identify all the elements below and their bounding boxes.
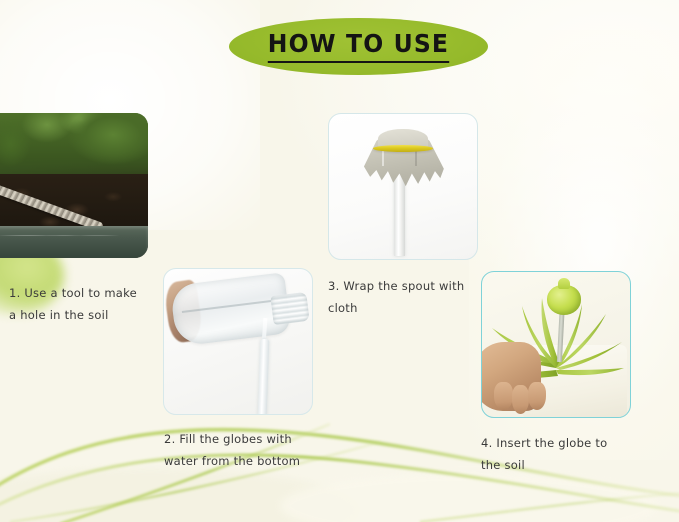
finger — [494, 382, 513, 410]
step-3: 3. Wrap the spout with cloth — [328, 113, 488, 320]
step-4-caption: 4. Insert the globe to the soil — [481, 432, 651, 477]
step-3-image — [328, 113, 478, 260]
how-to-use-infographic: HOW TO USE 1. Use a tool to make a hole … — [0, 0, 679, 522]
step-3-caption: 3. Wrap the spout with cloth — [328, 275, 488, 320]
step-4-image — [481, 271, 631, 418]
page-title: HOW TO USE — [268, 31, 449, 63]
step-2-image — [163, 268, 313, 415]
glass-globe-tube — [257, 338, 269, 415]
step-4: 4. Insert the globe to the soil — [481, 271, 651, 477]
step-1-image — [0, 113, 148, 258]
step-1-caption: 1. Use a tool to make a hole in the soil — [0, 282, 175, 327]
watering-globe — [547, 285, 581, 315]
title-banner: HOW TO USE — [229, 18, 488, 75]
finger — [528, 382, 546, 410]
pot-rim — [0, 226, 148, 258]
bottle-neck — [270, 292, 309, 325]
step-2: 2. Fill the globes with water from the b… — [163, 268, 339, 473]
step-2-caption: 2. Fill the globes with water from the b… — [163, 428, 339, 473]
step-1: 1. Use a tool to make a hole in the soil — [0, 113, 175, 327]
